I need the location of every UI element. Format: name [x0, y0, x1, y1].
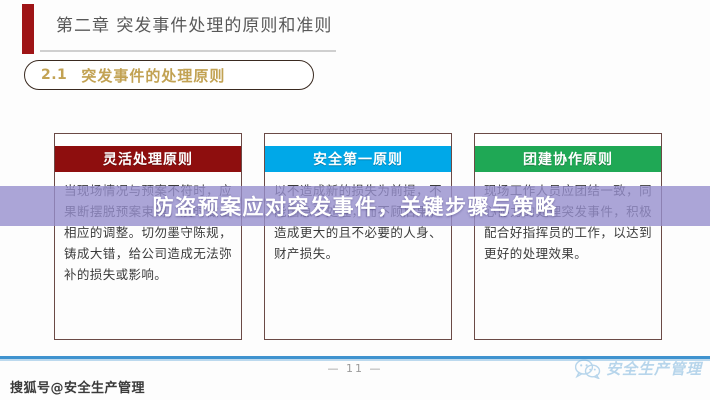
wechat-watermark: 安全生产管理 [575, 358, 702, 379]
card-top-strip [265, 134, 451, 146]
principle-card: 团建协作原则 现场工作人员应团结一致，同心协力的处理突发事件，积极配合好指挥员的… [474, 133, 662, 340]
card-top-strip [55, 134, 241, 146]
card-header-safety-first: 安全第一原则 [265, 146, 451, 172]
wechat-watermark-text: 安全生产管理 [606, 358, 702, 379]
slide-canvas: 第二章 突发事件处理的原则和准则 2.1 突发事件的处理原则 灵活处理原则 当现… [0, 0, 710, 400]
wechat-icon [575, 359, 601, 379]
section-title: 突发事件的处理原则 [81, 65, 225, 86]
card-top-strip [475, 134, 661, 146]
sohu-credit: 搜狐号@安全生产管理 [10, 377, 145, 396]
principle-card: 安全第一原则 以不造成新的损失为前提，不能因急于处理，而不顾后果，造成更大的且不… [264, 133, 452, 340]
chapter-accent-bar [22, 4, 34, 54]
principle-card: 灵活处理原则 当现场情况与预案不符时，应果断摆脱预案束缚，及时做出相应的调整。切… [54, 133, 242, 340]
card-header-flexible-handling: 灵活处理原则 [55, 146, 241, 172]
article-title-text: 防盗预案应对突发事件，关键步骤与策略 [153, 191, 558, 221]
principle-card-group: 灵活处理原则 当现场情况与预案不符时，应果断摆脱预案束缚，及时做出相应的调整。切… [54, 133, 662, 340]
chapter-divider [40, 50, 336, 52]
chapter-title: 第二章 突发事件处理的原则和准则 [56, 4, 332, 48]
chapter-heading: 第二章 突发事件处理的原则和准则 [22, 4, 332, 54]
section-number: 2.1 [41, 67, 67, 83]
article-title-overlay: 防盗预案应对突发事件，关键步骤与策略 [0, 186, 710, 226]
section-pill: 2.1 突发事件的处理原则 [24, 60, 314, 90]
card-header-teamwork: 团建协作原则 [475, 146, 661, 172]
